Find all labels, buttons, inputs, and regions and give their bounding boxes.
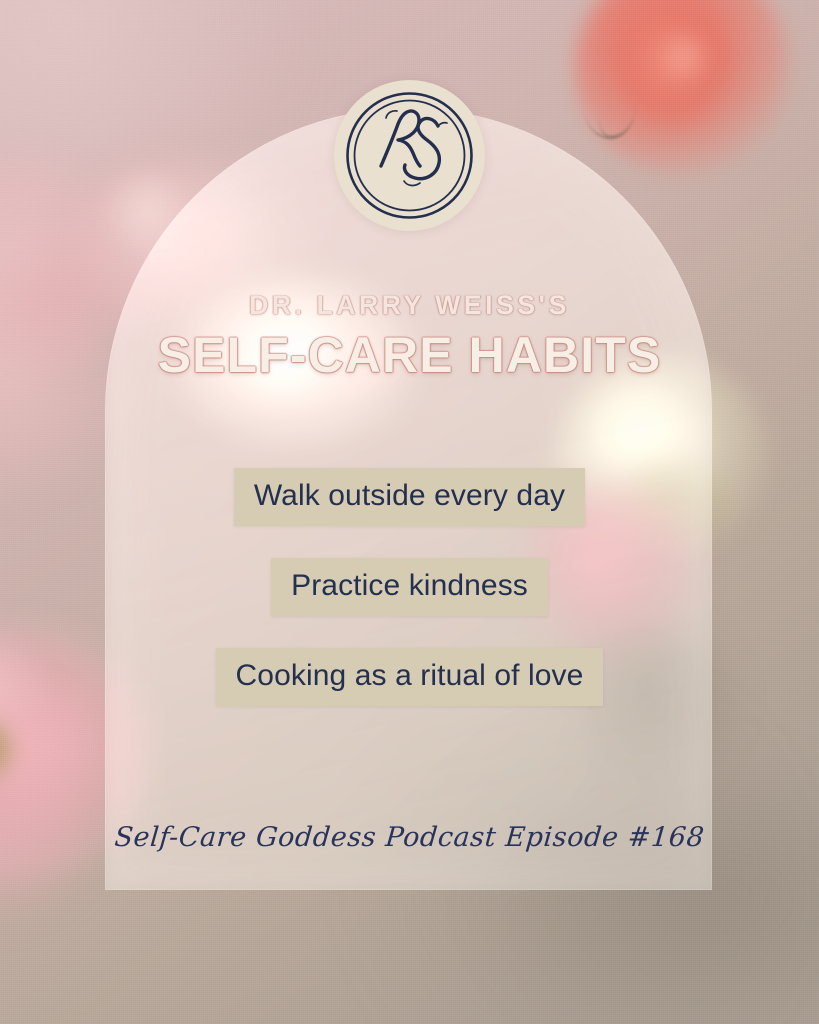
- habit-item-3: Cooking as a ritual of love: [216, 648, 604, 706]
- page-title: SELF-CARE HABITS: [0, 329, 819, 381]
- habit-item-2: Practice kindness: [271, 558, 548, 616]
- episode-caption: Self-Care Goddess Podcast Episode #168: [0, 822, 819, 853]
- eyebrow-text: DR. LARRY WEISS'S: [0, 292, 819, 319]
- habit-list: Walk outside every day Practice kindness…: [0, 468, 819, 706]
- rs-monogram-logo: [334, 80, 485, 231]
- title-block: DR. LARRY WEISS'S SELF-CARE HABITS: [0, 292, 819, 381]
- content-layer: DR. LARRY WEISS'S SELF-CARE HABITS Walk …: [0, 0, 819, 1024]
- habit-item-1: Walk outside every day: [234, 468, 585, 526]
- podcast-episode-graphic: DR. LARRY WEISS'S SELF-CARE HABITS Walk …: [0, 0, 819, 1024]
